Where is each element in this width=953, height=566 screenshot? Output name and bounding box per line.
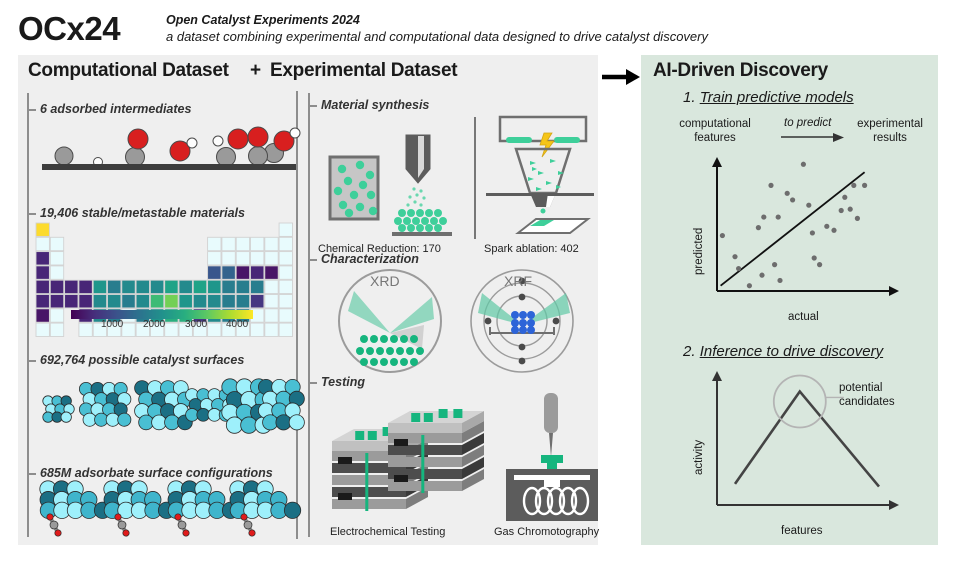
scatter-ylabel: predicted	[693, 228, 705, 275]
flow-left-line2: features	[669, 131, 761, 145]
volcano-ylabel: activity	[693, 440, 705, 475]
flow-left-line1: computational	[669, 117, 761, 131]
step-2-title: Inference to drive discovery	[700, 343, 883, 360]
colorbar-tick-3000: 3000	[185, 319, 207, 330]
panel-separator	[296, 91, 298, 539]
experimental-spine	[308, 93, 310, 537]
flow-right-line2: results	[845, 131, 935, 145]
annotation-potential-candidates: potential candidates	[839, 381, 931, 409]
tick-materials	[27, 213, 36, 215]
right-arrow-icon	[602, 65, 640, 89]
colorbar-tick-4000: 4000	[226, 319, 248, 330]
label-stable-materials: 19,406 stable/metastable materials	[40, 206, 245, 220]
colorbar-tick-2000: 2000	[143, 319, 165, 330]
adsorbate-configurations-illustration	[34, 467, 289, 539]
label-adsorbed-intermediates: 6 adsorbed intermediates	[40, 102, 191, 116]
caption-spark-ablation: Spark ablation: 402	[484, 243, 579, 255]
gas-chromatography-illustration	[496, 393, 606, 523]
left-panel: Computational Dataset + Experimental Dat…	[18, 55, 598, 545]
step-1-title: Train predictive models	[700, 89, 854, 106]
xrf-label: XRF	[504, 273, 532, 289]
caption-gas-chromatography: Gas Chromotography	[494, 526, 599, 538]
xrd-label: XRD	[370, 273, 400, 289]
scatter-plot	[699, 153, 909, 313]
caption-electrochemical-testing: Electrochemical Testing	[330, 526, 445, 538]
step-2-number: 2.	[683, 343, 696, 360]
panel-title-plus: +	[250, 60, 261, 82]
tick-characterization	[308, 259, 317, 261]
electrochemical-testing-illustration	[326, 395, 476, 525]
step-2-heading: 2. Inference to drive discovery	[683, 343, 883, 360]
colorbar-tick-1000: 1000	[101, 319, 123, 330]
heatmap-colorbar: 1000 2000 3000 4000	[71, 310, 253, 336]
figure-header: OCx24 Open Catalyst Experiments 2024 a d…	[18, 8, 938, 54]
panel-title-computational: Computational Dataset	[28, 60, 229, 82]
flow-label-computational-features: computational features	[669, 117, 761, 145]
catalyst-surfaces-illustration	[34, 375, 289, 450]
flow-right-line1: experimental	[845, 117, 935, 131]
chemical-reduction-illustration	[318, 133, 468, 238]
flow-label-to-predict: to predict	[784, 117, 831, 129]
tick-intermediates	[27, 109, 36, 111]
logo-text: OCx24	[18, 10, 120, 48]
to-predict-arrow-icon	[781, 133, 845, 143]
label-material-synthesis: Material synthesis	[321, 98, 429, 112]
volcano-xlabel: features	[781, 525, 823, 537]
panel-title-ai-discovery: AI-Driven Discovery	[653, 60, 828, 82]
spark-ablation-illustration	[486, 115, 596, 241]
annotation-line2: candidates	[839, 395, 931, 409]
step-1-heading: 1. Train predictive models	[683, 89, 854, 106]
right-panel: AI-Driven Discovery 1. Train predictive …	[641, 55, 938, 545]
tick-surfaces	[27, 360, 36, 362]
panel-title-experimental: Experimental Dataset	[270, 60, 457, 82]
adsorbed-intermediates-illustration	[34, 123, 296, 175]
annotation-line1: potential	[839, 381, 931, 395]
tick-material-synthesis	[308, 105, 317, 107]
synthesis-subdivider	[474, 117, 476, 239]
caption-chemical-reduction: Chemical Reduction: 170	[318, 243, 441, 255]
subtitle-line-2: a dataset combining experimental and com…	[166, 28, 708, 45]
label-testing: Testing	[321, 375, 365, 389]
label-catalyst-surfaces: 692,764 possible catalyst surfaces	[40, 353, 244, 367]
subtitle-line-1: Open Catalyst Experiments 2024	[166, 12, 708, 28]
tick-testing	[308, 382, 317, 384]
flow-label-experimental-results: experimental results	[845, 117, 935, 145]
step-1-number: 1.	[683, 89, 696, 106]
subtitle-block: Open Catalyst Experiments 2024 a dataset…	[166, 12, 708, 45]
computational-spine	[27, 93, 29, 537]
scatter-xlabel: actual	[788, 311, 819, 323]
